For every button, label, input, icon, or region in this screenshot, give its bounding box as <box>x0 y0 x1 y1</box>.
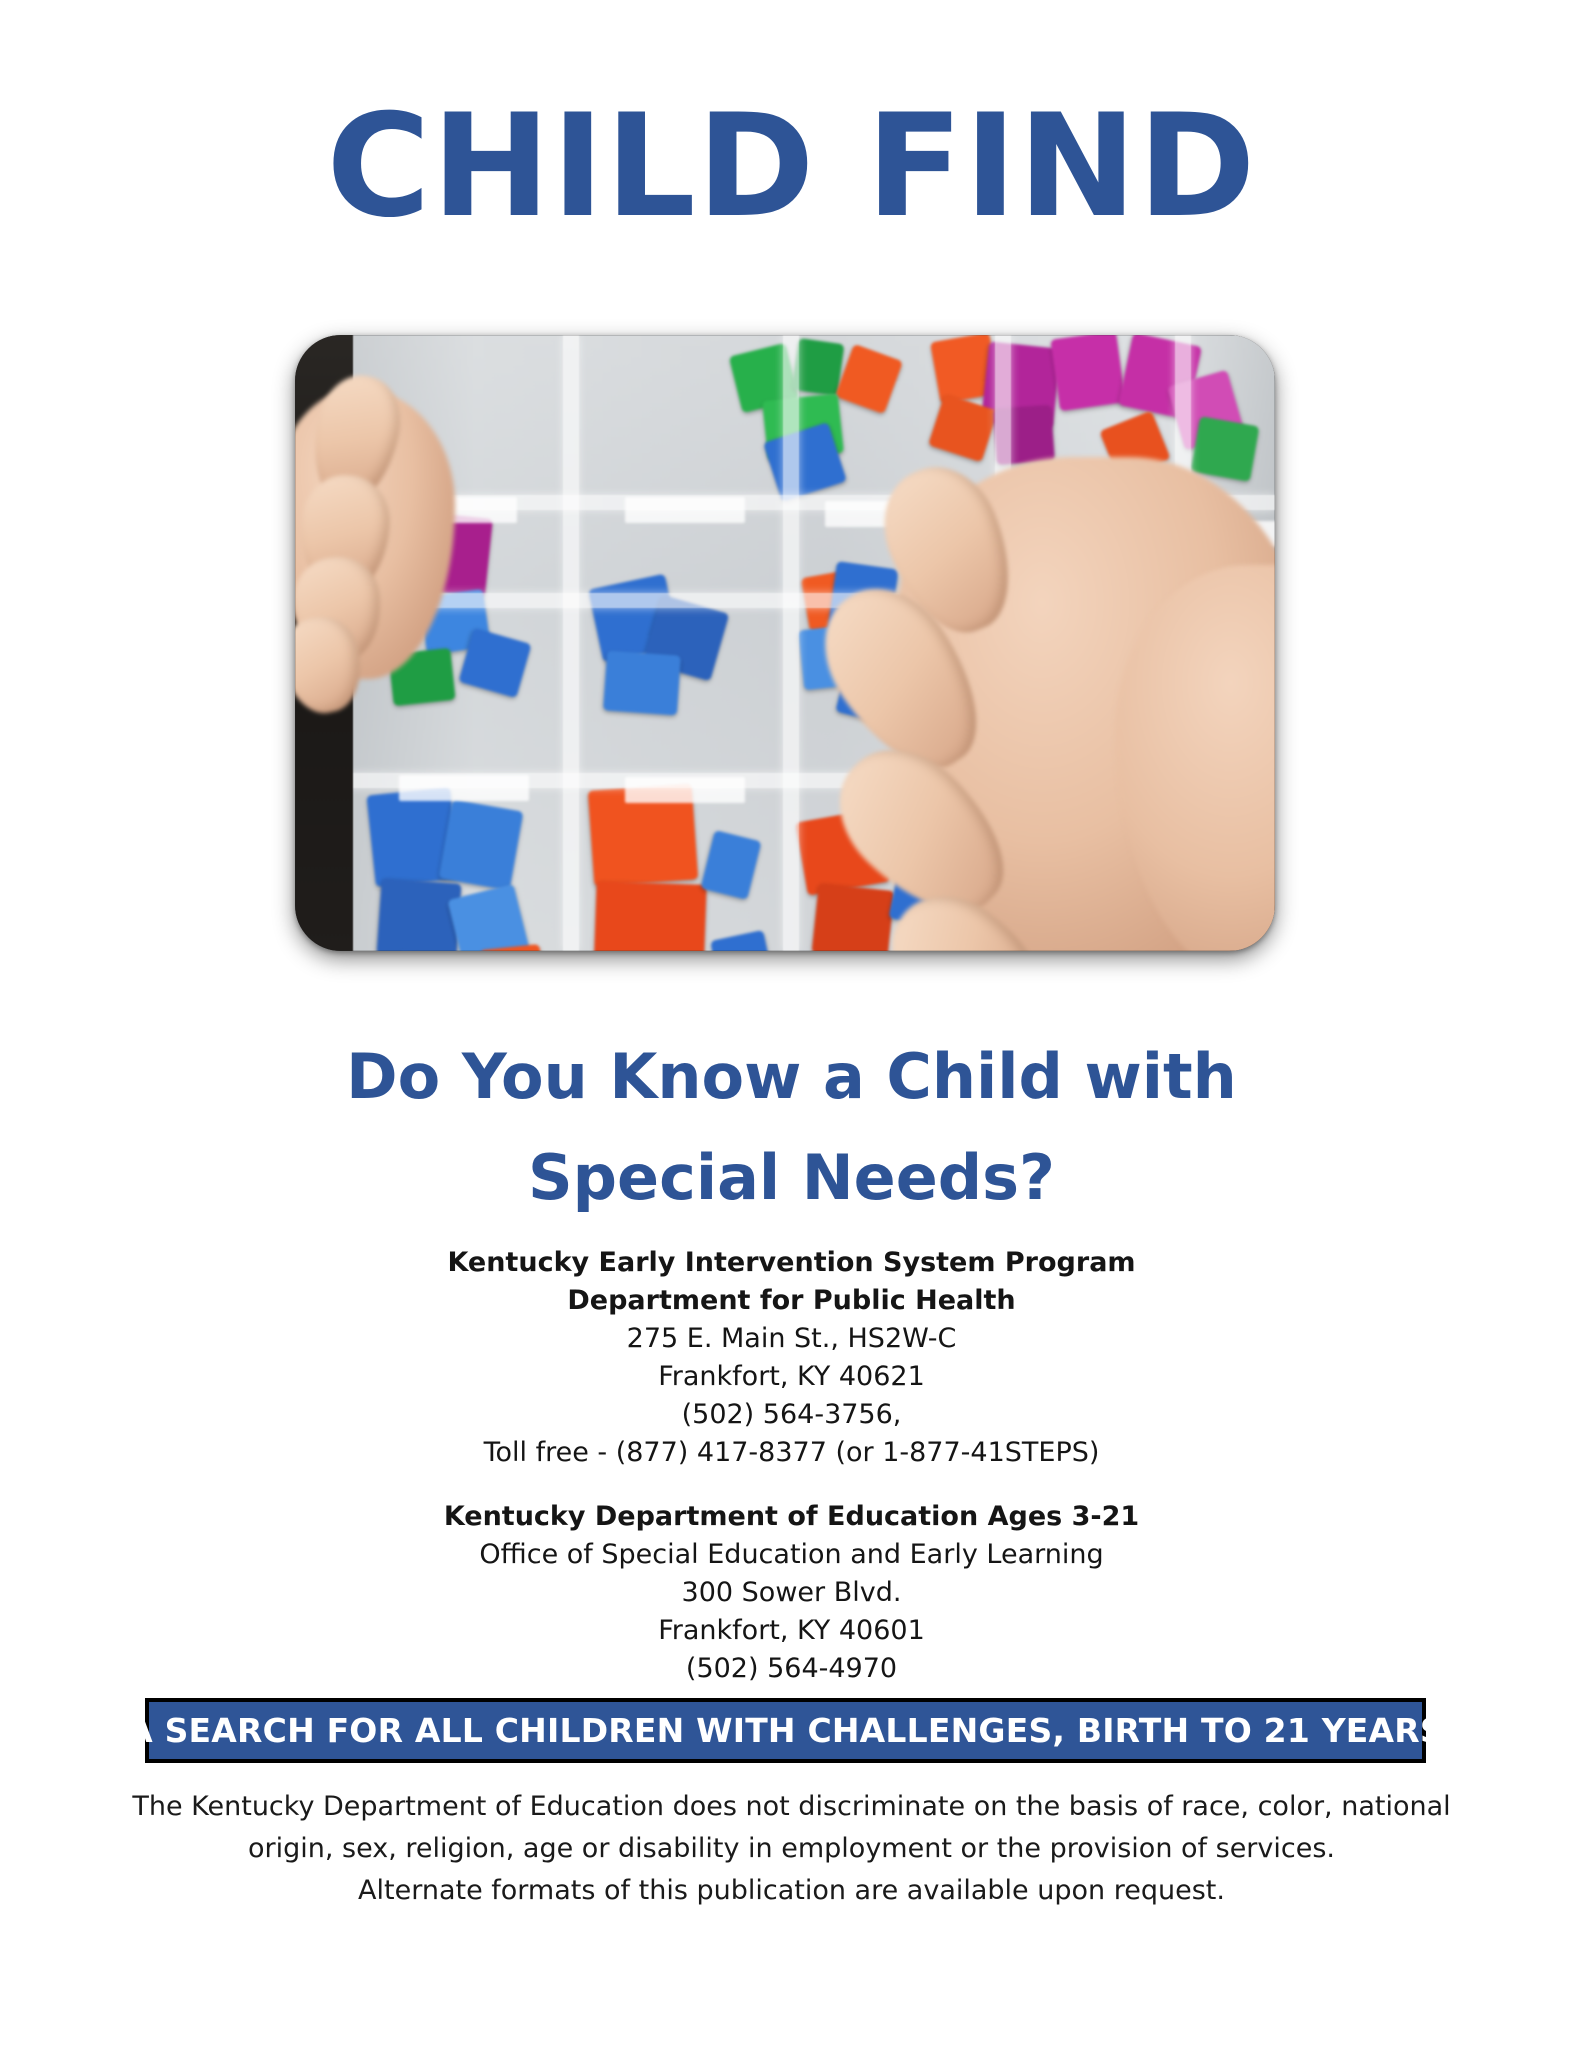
headline: Do You Know a Child with Special Needs? <box>0 1026 1583 1228</box>
disclaimer-line-3: Alternate formats of this publication ar… <box>0 1870 1583 1912</box>
letter-tile <box>792 338 845 396</box>
letter-tile <box>439 799 524 890</box>
keis-department: Department for Public Health <box>0 1282 1583 1320</box>
contact-info: Kentucky Early Intervention System Progr… <box>0 1244 1583 1688</box>
letter-tile <box>812 883 895 951</box>
disclaimer-line-2: origin, sex, religion, age or disability… <box>0 1828 1583 1870</box>
tray-label-6 <box>399 775 529 801</box>
keis-address-line-1: 275 E. Main St., HS2W-C <box>0 1320 1583 1358</box>
hero-photo <box>295 335 1275 951</box>
search-banner: A SEARCH FOR ALL CHILDREN WITH CHALLENGE… <box>145 1698 1426 1763</box>
letter-tile <box>1191 416 1260 482</box>
keis-program-name: Kentucky Early Intervention System Progr… <box>0 1244 1583 1282</box>
photo-illustration <box>295 335 1275 951</box>
letter-tile <box>1050 335 1125 411</box>
headline-line-1: Do You Know a Child with <box>0 1026 1583 1127</box>
nondiscrimination-disclaimer: The Kentucky Department of Education doe… <box>0 1786 1583 1912</box>
keis-address-line-2: Frankfort, KY 40621 <box>0 1358 1583 1396</box>
search-banner-text: A SEARCH FOR ALL CHILDREN WITH CHALLENGE… <box>127 1711 1444 1750</box>
disclaimer-line-1: The Kentucky Department of Education doe… <box>0 1786 1583 1828</box>
kde-address-line-1: 300 Sower Blvd. <box>0 1574 1583 1612</box>
page-title: CHILD FIND <box>0 96 1583 238</box>
tray-label-7 <box>625 777 745 803</box>
letter-tile <box>376 878 461 951</box>
headline-line-2: Special Needs? <box>0 1127 1583 1228</box>
tray-divider-v1 <box>563 335 579 951</box>
contact-spacer <box>0 1472 1583 1498</box>
keis-toll-free: Toll free - (877) 417-8377 (or 1-877-41S… <box>0 1434 1583 1472</box>
kde-phone: (502) 564-4970 <box>0 1650 1583 1688</box>
tray-label-2 <box>625 497 745 523</box>
letter-tile <box>603 650 681 715</box>
kde-office: Office of Special Education and Early Le… <box>0 1536 1583 1574</box>
tray-divider-v2 <box>783 335 799 951</box>
keis-phone: (502) 564-3756, <box>0 1396 1583 1434</box>
kde-address-line-2: Frankfort, KY 40601 <box>0 1612 1583 1650</box>
letter-tile <box>593 881 706 951</box>
kde-program-name: Kentucky Department of Education Ages 3-… <box>0 1498 1583 1536</box>
child-find-flyer: CHILD FIND <box>0 0 1583 2048</box>
